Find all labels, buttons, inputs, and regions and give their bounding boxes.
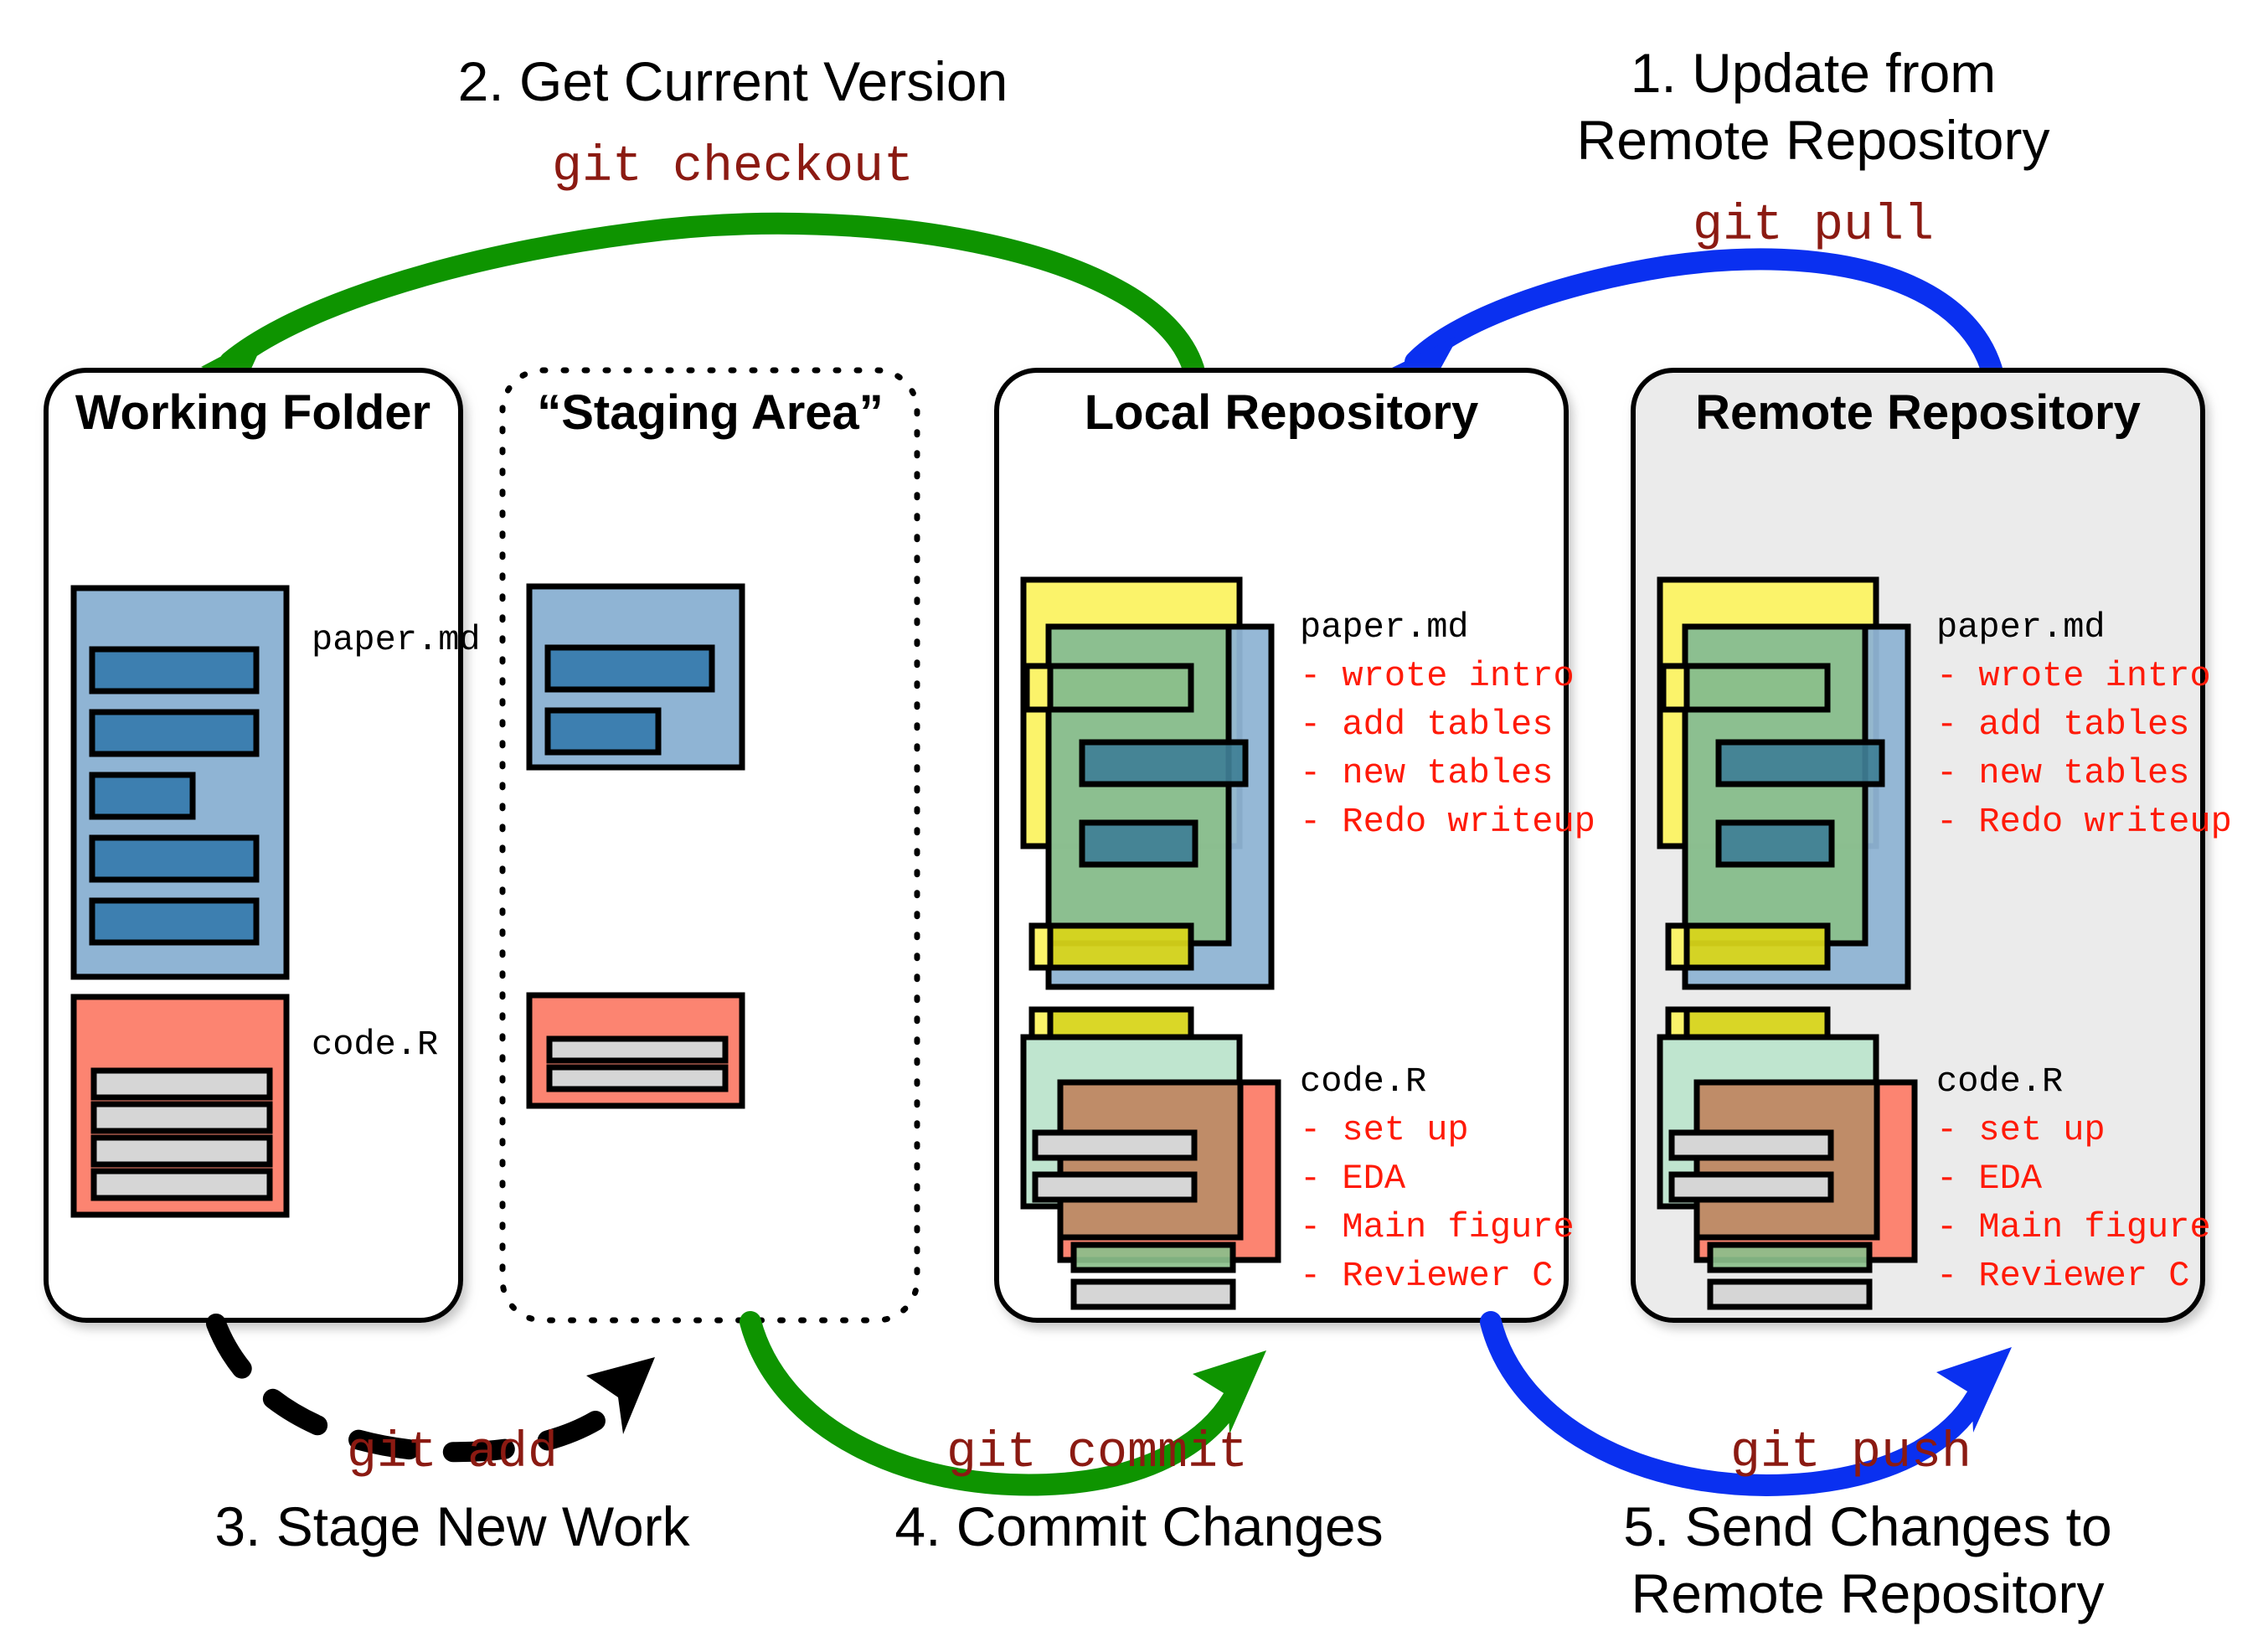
step-3-label-group: git add 3. Stage New Work <box>214 1425 690 1557</box>
step-5-command: git push <box>1730 1425 1972 1482</box>
local-repository-title: Local Repository <box>1085 385 1479 440</box>
git-workflow-diagram: 2. Get Current Version git checkout 1. U… <box>0 0 2268 1647</box>
step-2-title: 2. Get Current Version <box>458 50 1008 112</box>
local-repository-paper-change-2: - new tables <box>1300 753 1553 793</box>
step-1-title-line2: Remote Repository <box>1577 109 2050 171</box>
remote-repository-code-change-3: - Reviewer C <box>1936 1256 2189 1296</box>
remote-repository-paper-change-3: - Redo writeup <box>1936 802 2232 842</box>
arrow-git-checkout <box>201 224 1193 392</box>
step-3-command: git add <box>347 1425 558 1482</box>
remote-repository-paper-filename: paper.md <box>1936 607 2106 648</box>
working-folder-code-card <box>74 997 286 1215</box>
working-folder-paper-card <box>74 588 286 977</box>
local-repository-paper-change-0: - wrote intro <box>1300 656 1575 696</box>
remote-repository-title: Remote Repository <box>1695 385 2141 440</box>
remote-repository-paper-change-0: - wrote intro <box>1936 656 2211 696</box>
step-4-command: git commit <box>946 1425 1248 1482</box>
step-4-title: 4. Commit Changes <box>894 1495 1383 1557</box>
remote-repository-code-filename: code.R <box>1936 1061 2063 1102</box>
panel-staging-area[interactable]: “Staging Area” <box>503 370 917 1320</box>
local-repository-code-change-1: - EDA <box>1300 1159 1406 1199</box>
local-repository-paper-change-3: - Redo writeup <box>1300 802 1595 842</box>
panel-local-repository[interactable]: Local Repository paper.md - wrote intro … <box>997 370 1595 1320</box>
step-1-command: git pull <box>1693 198 1934 255</box>
staging-area-frame <box>503 370 917 1320</box>
remote-repository-paper-change-2: - new tables <box>1936 753 2189 793</box>
local-repository-paper-commit-stack <box>1023 580 1271 1051</box>
local-repository-code-change-2: - Main figure <box>1300 1207 1575 1247</box>
staging-area-paper-card <box>529 586 742 767</box>
step-1-label-group: 1. Update from Remote Repository git pul… <box>1577 42 2050 255</box>
remote-repository-code-change-2: - Main figure <box>1936 1207 2211 1247</box>
remote-repository-code-change-0: - set up <box>1936 1110 2106 1150</box>
local-repository-paper-change-1: - add tables <box>1300 705 1553 745</box>
step-3-title: 3. Stage New Work <box>214 1495 690 1557</box>
remote-repository-code-change-1: - EDA <box>1936 1159 2043 1199</box>
local-repository-paper-filename: paper.md <box>1300 607 1469 648</box>
step-1-title-line1: 1. Update from <box>1631 42 1997 104</box>
staging-area-title: “Staging Area” <box>537 385 884 440</box>
staging-area-code-card <box>529 995 742 1106</box>
step-5-label-group: git push 5. Send Changes to Remote Repos… <box>1623 1425 2111 1624</box>
local-repository-code-change-0: - set up <box>1300 1110 1469 1150</box>
panel-working-folder[interactable]: Working Folder paper.md code.R <box>46 370 481 1320</box>
step-5-title-line1: 5. Send Changes to <box>1623 1495 2111 1557</box>
working-folder-code-filename: code.R <box>312 1025 438 1065</box>
remote-repository-paper-commit-stack <box>1660 580 1908 1051</box>
step-2-command: git checkout <box>552 139 914 196</box>
local-repository-code-filename: code.R <box>1300 1061 1426 1102</box>
step-2-label-group: 2. Get Current Version git checkout <box>458 50 1008 196</box>
working-folder-paper-filename: paper.md <box>312 620 481 660</box>
panel-remote-repository[interactable]: Remote Repository paper.md - wrote intro… <box>1633 370 2232 1320</box>
step-5-title-line2: Remote Repository <box>1631 1562 2105 1624</box>
local-repository-code-change-3: - Reviewer C <box>1300 1256 1553 1296</box>
remote-repository-paper-change-1: - add tables <box>1936 705 2189 745</box>
working-folder-title: Working Folder <box>75 385 430 440</box>
